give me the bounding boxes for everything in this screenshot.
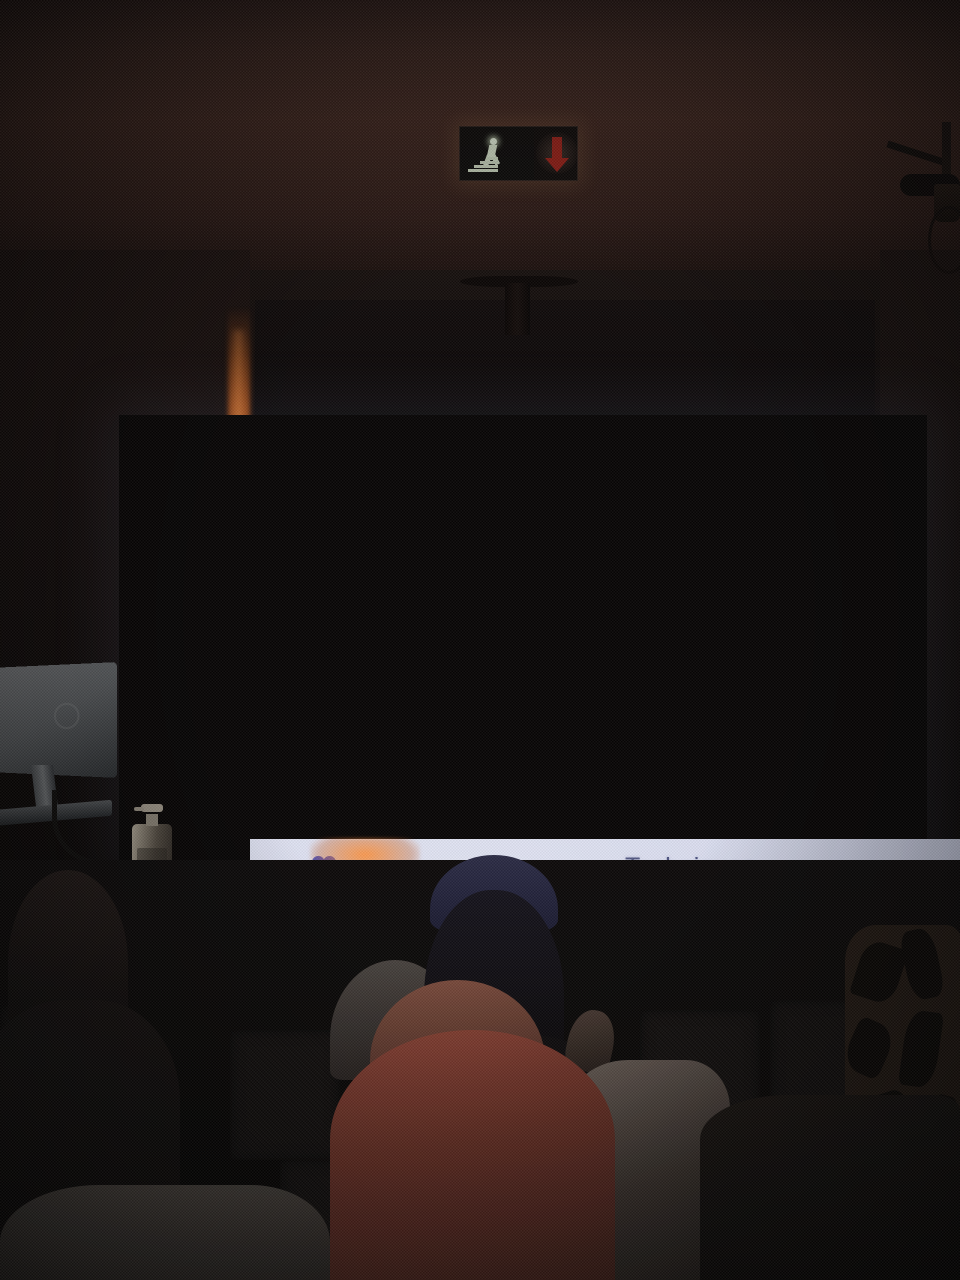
exit-sign-panel bbox=[460, 127, 534, 180]
presentation-room-photo: Techniques Technique de la friction hydr… bbox=[0, 0, 960, 1280]
stairs-icon bbox=[468, 157, 498, 172]
ceiling-mounted-fixture bbox=[884, 118, 960, 268]
audience-person bbox=[700, 1095, 960, 1280]
down-arrow-icon bbox=[552, 137, 562, 159]
audience-person bbox=[0, 1185, 330, 1280]
audience-person bbox=[330, 1030, 615, 1280]
display-bezel: Techniques Technique de la friction hydr… bbox=[119, 415, 927, 867]
emergency-exit-sign bbox=[459, 126, 578, 181]
ceiling-mount-pole bbox=[505, 283, 530, 335]
